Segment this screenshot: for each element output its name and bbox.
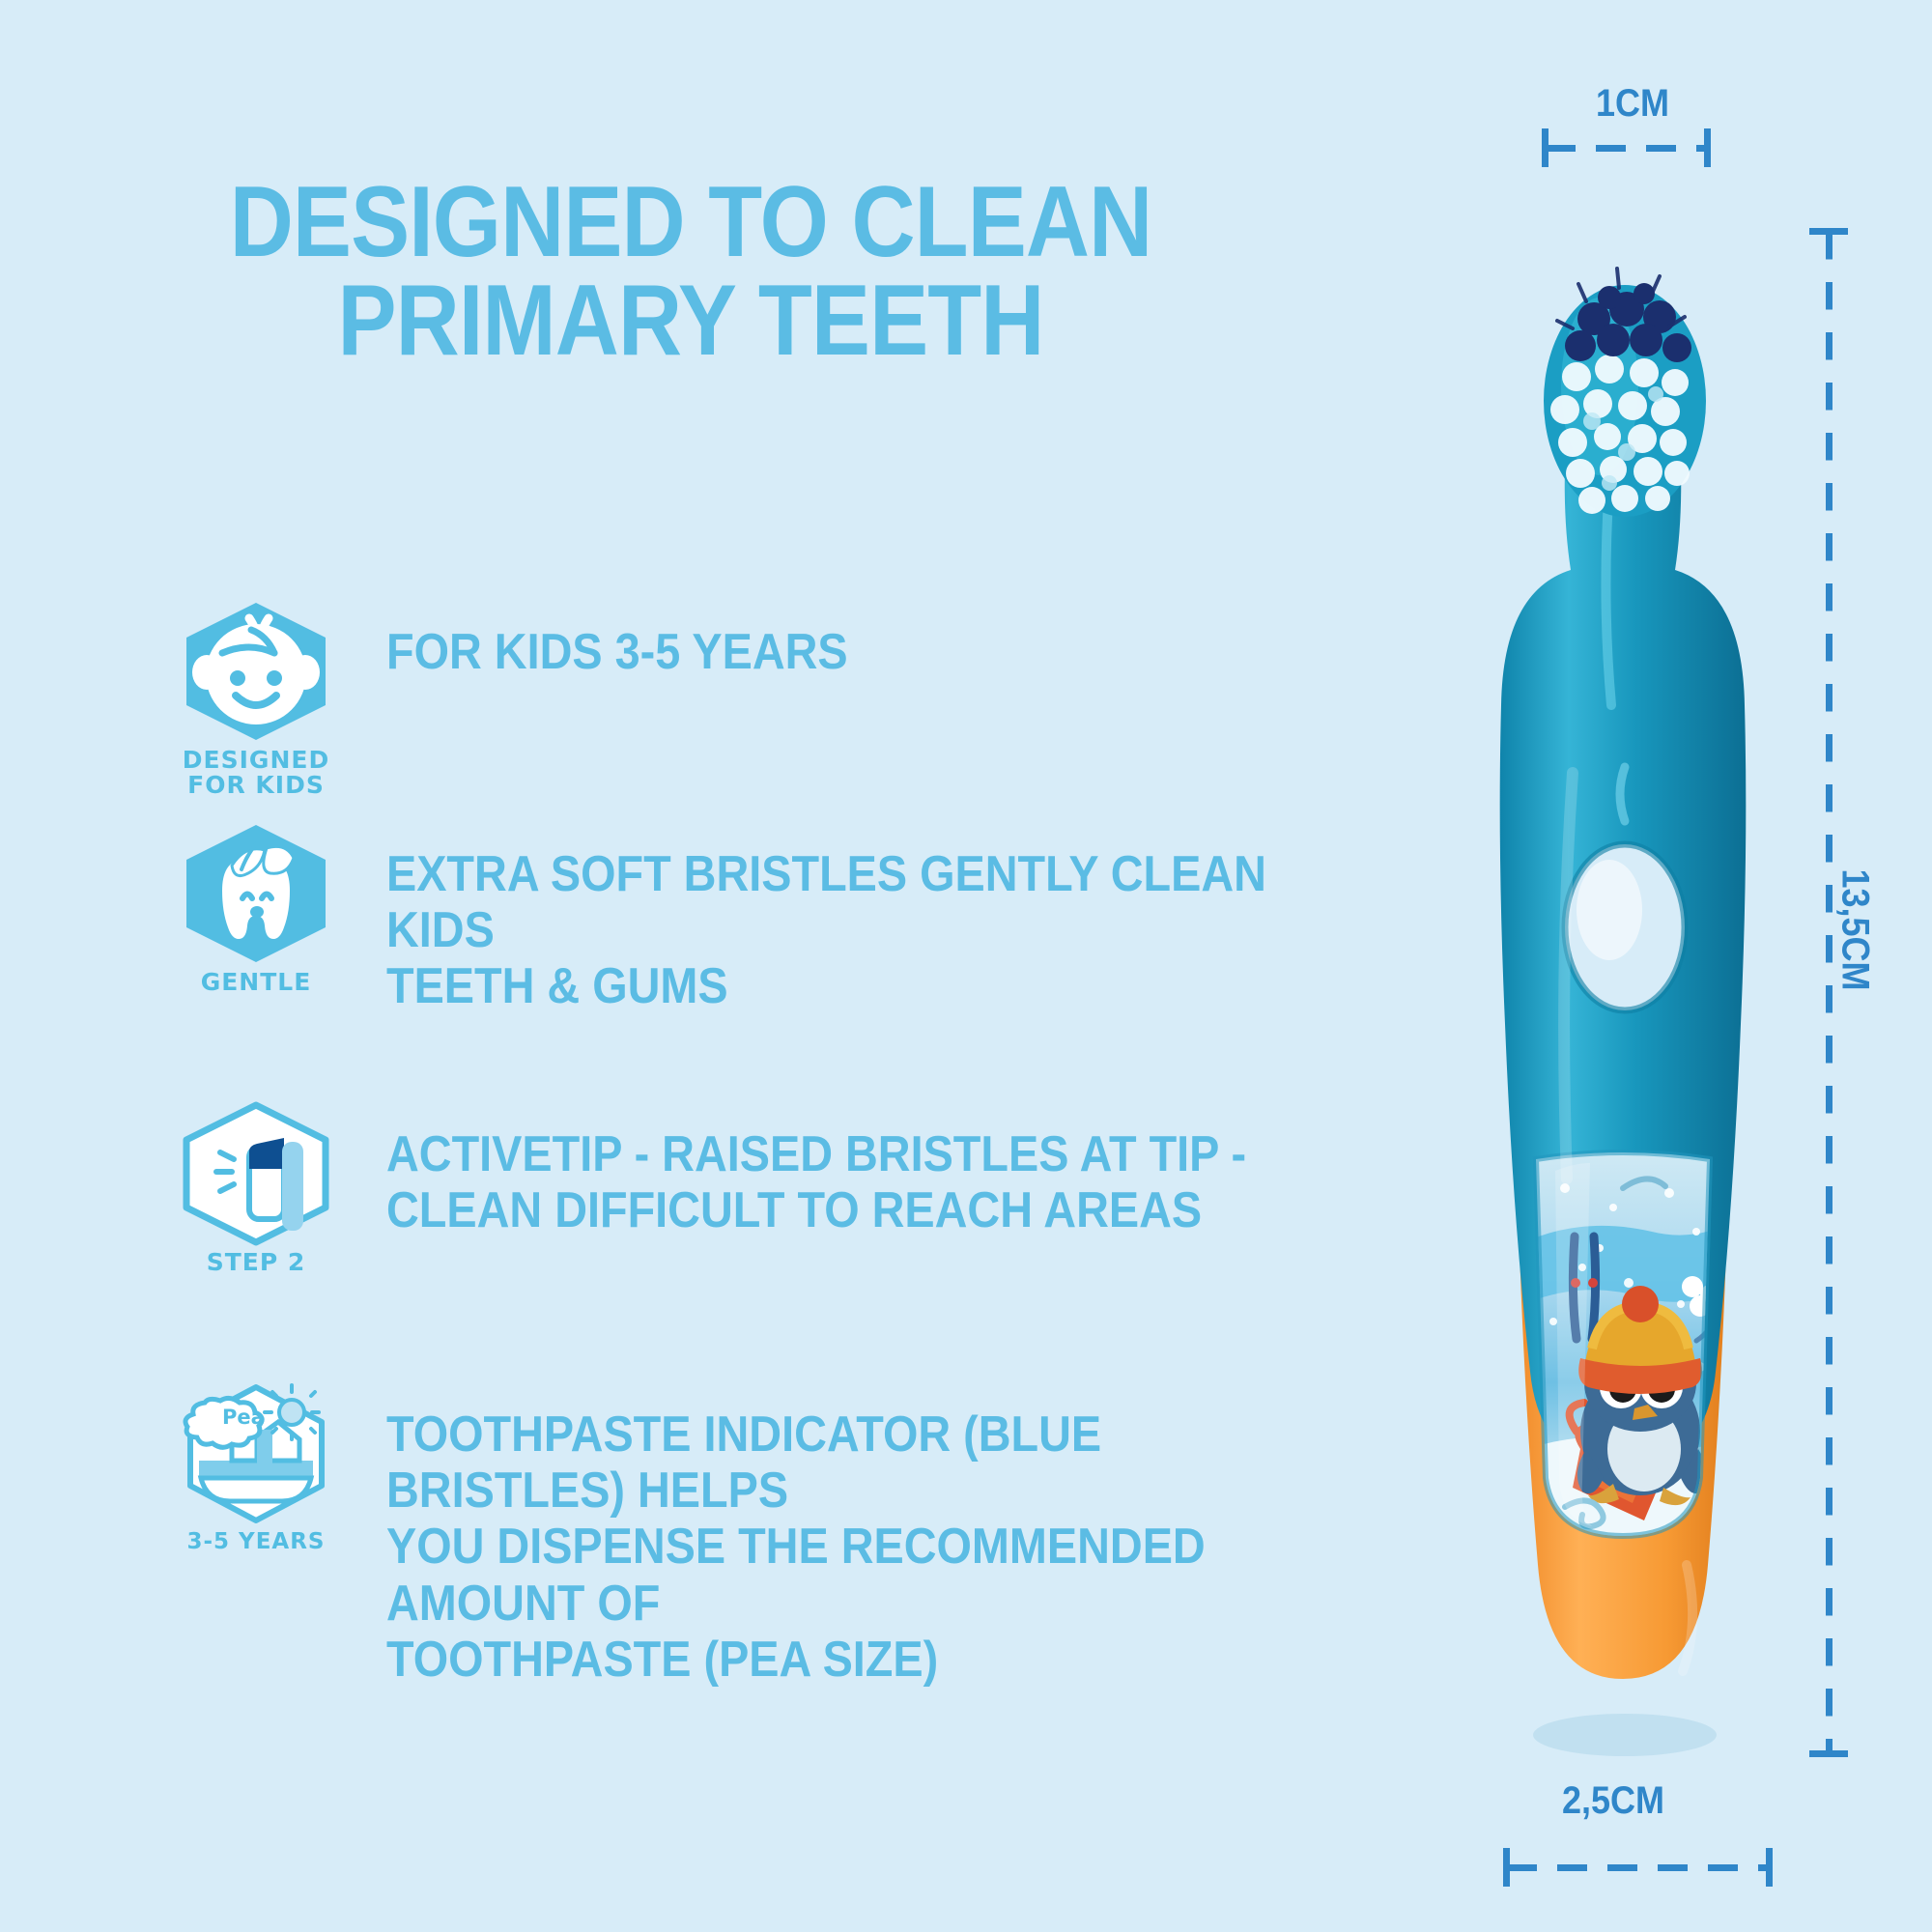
badge-designed-for-kids: DESIGNED FOR KIDS: [164, 599, 348, 799]
feature-text-activetip: ACTIVETIP - RAISED BRISTLES AT TIP - CLE…: [386, 1101, 1246, 1238]
infographic-canvas: DESIGNED TO CLEAN PRIMARY TEETH: [0, 0, 1932, 1932]
badge-label-gentle: GENTLE: [201, 970, 312, 995]
badge-label-step-2: STEP 2: [207, 1250, 306, 1275]
badge-label-designed-for-kids: DESIGNED FOR KIDS: [183, 748, 329, 799]
dimension-tick-handle-right: [1766, 1848, 1773, 1887]
pea-size-icon: Pea: [172, 1381, 341, 1526]
gentle-tooth-icon: [174, 821, 338, 966]
page-title: DESIGNED TO CLEAN PRIMARY TEETH: [83, 174, 1298, 371]
designed-for-kids-icon: [174, 599, 338, 744]
feature-text-toothpaste-indicator: TOOTHPASTE INDICATOR (BLUE BRISTLES) HEL…: [386, 1381, 1308, 1688]
badge-label-pea-size: 3-5 YEARS: [186, 1530, 325, 1553]
dimension-line-handle-width: [1507, 1864, 1770, 1871]
badge-pea-size: Pea 3-5 YEARS: [164, 1381, 348, 1553]
dimension-label-total-length: 13,5CM: [1833, 817, 1877, 1043]
dimension-tick-head-left: [1542, 128, 1548, 167]
badge-gentle: GENTLE: [164, 821, 348, 995]
feature-text-gentle: EXTRA SOFT BRISTLES GENTLY CLEAN KIDS TE…: [386, 821, 1308, 1015]
activetip-brush-icon: [174, 1101, 338, 1246]
dimension-line-total-length: [1826, 232, 1833, 1756]
dimension-tick-handle-left: [1503, 1848, 1510, 1887]
feature-item-toothpaste-indicator: Pea 3-5 YEARS TOOTHPASTE INDICATOR (BLUE…: [164, 1381, 1410, 1688]
badge-step-2: STEP 2: [164, 1101, 348, 1275]
feature-item-activetip: STEP 2 ACTIVETIP - RAISED BRISTLES AT TI…: [164, 1101, 1342, 1275]
title-line-2: PRIMARY TEETH: [83, 272, 1298, 371]
title-line-1: DESIGNED TO CLEAN: [83, 174, 1298, 272]
dimension-tick-head-right: [1704, 128, 1711, 167]
dimension-tick-length-top: [1809, 228, 1848, 235]
feature-item-designed-for-kids: DESIGNED FOR KIDS FOR KIDS 3-5 YEARS: [164, 599, 899, 799]
pea-bubble-text: Pea: [222, 1406, 265, 1429]
feature-text-designed-for-kids: FOR KIDS 3-5 YEARS: [386, 599, 848, 680]
dimension-label-handle-width: 2,5CM: [1500, 1779, 1726, 1823]
feature-item-gentle: GENTLE EXTRA SOFT BRISTLES GENTLY CLEAN …: [164, 821, 1410, 1015]
dimension-label-head-width: 1CM: [1546, 82, 1719, 126]
dimension-tick-length-bottom: [1809, 1750, 1848, 1757]
dimension-line-head-width: [1546, 145, 1708, 152]
product-image-toothbrush: [1420, 193, 1826, 1777]
